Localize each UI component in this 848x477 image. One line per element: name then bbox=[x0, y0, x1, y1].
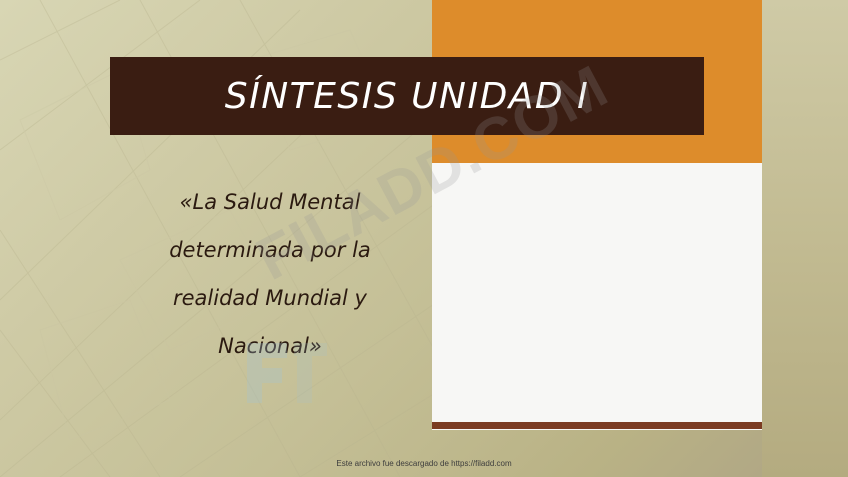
right-background-edge bbox=[762, 0, 848, 477]
title-banner: SÍNTESIS UNIDAD I bbox=[110, 57, 704, 135]
subtitle-line: «La Salud Mental bbox=[110, 178, 430, 226]
slide-title: SÍNTESIS UNIDAD I bbox=[225, 76, 589, 117]
subtitle-line: determinada por la bbox=[110, 226, 430, 274]
bottom-accent-bar bbox=[432, 422, 762, 429]
presentation-slide: SÍNTESIS UNIDAD I «La Salud Mental deter… bbox=[0, 0, 848, 477]
download-footer: Este archivo fue descargado de https://f… bbox=[0, 459, 848, 468]
slide-subtitle: «La Salud Mental determinada por la real… bbox=[110, 178, 430, 370]
subtitle-line: realidad Mundial y bbox=[110, 274, 430, 322]
subtitle-line: Nacional» bbox=[110, 322, 430, 370]
